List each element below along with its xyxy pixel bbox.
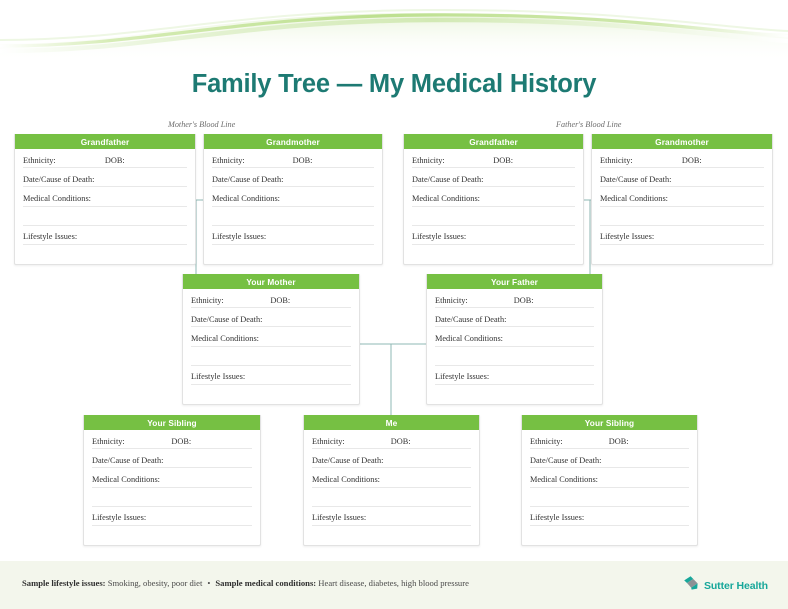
field-label-dob: DOB: xyxy=(682,156,702,165)
field-label-medical: Medical Conditions: xyxy=(530,475,598,484)
field-label-death: Date/Cause of Death: xyxy=(530,456,601,465)
field-label-lifestyle: Lifestyle Issues: xyxy=(191,372,245,381)
wave-svg xyxy=(0,0,788,62)
card-maternal-grandfather[interactable]: Grandfather Ethnicity: DOB: Date/Cause o… xyxy=(14,134,196,265)
card-title: Your Father xyxy=(427,274,602,289)
field-medical-continuation[interactable] xyxy=(92,488,252,507)
field-lifestyle-continuation[interactable] xyxy=(530,526,689,545)
field-medical[interactable]: Medical Conditions: xyxy=(530,468,689,487)
field-death[interactable]: Date/Cause of Death: xyxy=(412,168,575,187)
header-wave-decoration xyxy=(0,0,788,62)
field-ethnicity-dob[interactable]: Ethnicity: DOB: xyxy=(530,430,689,449)
footer-medical-heading: Sample medical conditions: xyxy=(215,578,316,588)
field-label-dob: DOB: xyxy=(105,156,125,165)
card-sibling-right[interactable]: Your Sibling Ethnicity: DOB: Date/Cause … xyxy=(521,415,698,546)
field-label-lifestyle: Lifestyle Issues: xyxy=(92,513,146,522)
card-me[interactable]: Me Ethnicity: DOB: Date/Cause of Death: … xyxy=(303,415,480,546)
field-label-death: Date/Cause of Death: xyxy=(435,315,506,324)
field-ethnicity-dob[interactable]: Ethnicity: DOB: xyxy=(212,149,374,168)
field-lifestyle[interactable]: Lifestyle Issues: xyxy=(312,507,471,526)
field-label-medical: Medical Conditions: xyxy=(191,334,259,343)
field-label-ethnicity: Ethnicity: xyxy=(312,437,345,446)
field-label-death: Date/Cause of Death: xyxy=(23,175,94,184)
brand-name: Sutter Health xyxy=(704,580,768,592)
logo-mark-svg xyxy=(682,574,700,592)
field-label-lifestyle: Lifestyle Issues: xyxy=(23,232,77,241)
field-death[interactable]: Date/Cause of Death: xyxy=(530,449,689,468)
field-lifestyle[interactable]: Lifestyle Issues: xyxy=(92,507,252,526)
field-label-lifestyle: Lifestyle Issues: xyxy=(412,232,466,241)
field-medical-continuation[interactable] xyxy=(212,207,374,226)
card-fields[interactable]: Ethnicity: DOB: Date/Cause of Death: Med… xyxy=(183,289,359,404)
field-medical[interactable]: Medical Conditions: xyxy=(92,468,252,487)
field-label-dob: DOB: xyxy=(493,156,513,165)
field-label-ethnicity: Ethnicity: xyxy=(435,296,468,305)
field-label-ethnicity: Ethnicity: xyxy=(530,437,563,446)
field-lifestyle-continuation[interactable] xyxy=(92,526,252,545)
field-ethnicity-dob[interactable]: Ethnicity: DOB: xyxy=(312,430,471,449)
footer-medical-examples: Heart disease, diabetes, high blood pres… xyxy=(316,578,469,588)
field-death[interactable]: Date/Cause of Death: xyxy=(435,308,594,327)
field-ethnicity-dob[interactable]: Ethnicity: DOB: xyxy=(23,149,187,168)
field-medical-continuation[interactable] xyxy=(23,207,187,226)
card-title: Grandfather xyxy=(15,134,195,149)
field-label-dob: DOB: xyxy=(293,156,313,165)
field-lifestyle[interactable]: Lifestyle Issues: xyxy=(600,226,764,245)
field-label-medical: Medical Conditions: xyxy=(600,194,668,203)
field-death[interactable]: Date/Cause of Death: xyxy=(600,168,764,187)
card-title: Your Sibling xyxy=(84,415,260,430)
card-maternal-grandmother[interactable]: Grandmother Ethnicity: DOB: Date/Cause o… xyxy=(203,134,383,265)
field-lifestyle[interactable]: Lifestyle Issues: xyxy=(530,507,689,526)
field-lifestyle-continuation[interactable] xyxy=(191,385,351,404)
footer-separator: • xyxy=(202,578,215,588)
card-title: Me xyxy=(304,415,479,430)
field-medical[interactable]: Medical Conditions: xyxy=(412,187,575,206)
mothers-blood-line-label: Mother's Blood Line xyxy=(168,120,235,129)
field-ethnicity-dob[interactable]: Ethnicity: DOB: xyxy=(191,289,351,308)
field-label-dob: DOB: xyxy=(270,296,290,305)
card-fields[interactable]: Ethnicity: DOB: Date/Cause of Death: Med… xyxy=(204,149,382,264)
field-label-lifestyle: Lifestyle Issues: xyxy=(435,372,489,381)
field-ethnicity-dob[interactable]: Ethnicity: DOB: xyxy=(92,430,252,449)
field-label-lifestyle: Lifestyle Issues: xyxy=(212,232,266,241)
field-medical-continuation[interactable] xyxy=(412,207,575,226)
field-label-dob: DOB: xyxy=(514,296,534,305)
field-label-medical: Medical Conditions: xyxy=(412,194,480,203)
field-label-death: Date/Cause of Death: xyxy=(212,175,283,184)
field-death[interactable]: Date/Cause of Death: xyxy=(191,308,351,327)
card-fields[interactable]: Ethnicity: DOB: Date/Cause of Death: Med… xyxy=(404,149,583,264)
field-lifestyle-continuation[interactable] xyxy=(412,245,575,264)
field-lifestyle[interactable]: Lifestyle Issues: xyxy=(23,226,187,245)
field-ethnicity-dob[interactable]: Ethnicity: DOB: xyxy=(412,149,575,168)
field-medical[interactable]: Medical Conditions: xyxy=(191,327,351,346)
field-label-medical: Medical Conditions: xyxy=(92,475,160,484)
field-label-lifestyle: Lifestyle Issues: xyxy=(312,513,366,522)
field-label-dob: DOB: xyxy=(171,437,191,446)
field-medical-continuation[interactable] xyxy=(530,488,689,507)
field-label-ethnicity: Ethnicity: xyxy=(23,156,56,165)
field-label-ethnicity: Ethnicity: xyxy=(600,156,633,165)
field-lifestyle[interactable]: Lifestyle Issues: xyxy=(412,226,575,245)
field-lifestyle-continuation[interactable] xyxy=(23,245,187,264)
field-lifestyle-continuation[interactable] xyxy=(212,245,374,264)
card-paternal-grandmother[interactable]: Grandmother Ethnicity: DOB: Date/Cause o… xyxy=(591,134,773,265)
card-title: Grandmother xyxy=(204,134,382,149)
field-lifestyle-continuation[interactable] xyxy=(600,245,764,264)
field-death[interactable]: Date/Cause of Death: xyxy=(312,449,471,468)
card-sibling-left[interactable]: Your Sibling Ethnicity: DOB: Date/Cause … xyxy=(83,415,261,546)
field-death[interactable]: Date/Cause of Death: xyxy=(212,168,374,187)
field-label-ethnicity: Ethnicity: xyxy=(92,437,125,446)
field-death[interactable]: Date/Cause of Death: xyxy=(23,168,187,187)
field-ethnicity-dob[interactable]: Ethnicity: DOB: xyxy=(435,289,594,308)
field-lifestyle-continuation[interactable] xyxy=(435,385,594,404)
field-lifestyle[interactable]: Lifestyle Issues: xyxy=(435,366,594,385)
card-fields[interactable]: Ethnicity: DOB: Date/Cause of Death: Med… xyxy=(15,149,195,264)
field-lifestyle[interactable]: Lifestyle Issues: xyxy=(191,366,351,385)
card-title: Your Mother xyxy=(183,274,359,289)
field-medical[interactable]: Medical Conditions: xyxy=(212,187,374,206)
field-label-death: Date/Cause of Death: xyxy=(412,175,483,184)
field-label-dob: DOB: xyxy=(609,437,629,446)
field-medical-continuation[interactable] xyxy=(191,347,351,366)
field-label-death: Date/Cause of Death: xyxy=(92,456,163,465)
field-label-dob: DOB: xyxy=(391,437,411,446)
card-fields[interactable]: Ethnicity: DOB: Date/Cause of Death: Med… xyxy=(304,430,479,545)
card-paternal-grandfather[interactable]: Grandfather Ethnicity: DOB: Date/Cause o… xyxy=(403,134,584,265)
card-fields[interactable]: Ethnicity: DOB: Date/Cause of Death: Med… xyxy=(592,149,772,264)
card-fields[interactable]: Ethnicity: DOB: Date/Cause of Death: Med… xyxy=(522,430,697,545)
field-label-ethnicity: Ethnicity: xyxy=(212,156,245,165)
field-label-lifestyle: Lifestyle Issues: xyxy=(530,513,584,522)
field-medical[interactable]: Medical Conditions: xyxy=(435,327,594,346)
field-label-ethnicity: Ethnicity: xyxy=(191,296,224,305)
card-title: Your Sibling xyxy=(522,415,697,430)
card-title: Grandmother xyxy=(592,134,772,149)
card-fields[interactable]: Ethnicity: DOB: Date/Cause of Death: Med… xyxy=(84,430,260,545)
field-label-death: Date/Cause of Death: xyxy=(600,175,671,184)
brand-lockup: Sutter Health xyxy=(682,574,768,597)
field-medical[interactable]: Medical Conditions: xyxy=(600,187,764,206)
field-label-death: Date/Cause of Death: xyxy=(191,315,262,324)
field-death[interactable]: Date/Cause of Death: xyxy=(92,449,252,468)
field-lifestyle-continuation[interactable] xyxy=(312,526,471,545)
field-medical-continuation[interactable] xyxy=(435,347,594,366)
field-medical-continuation[interactable] xyxy=(600,207,764,226)
field-medical[interactable]: Medical Conditions: xyxy=(312,468,471,487)
footer-sample-text: Sample lifestyle issues: Smoking, obesit… xyxy=(22,578,469,588)
field-ethnicity-dob[interactable]: Ethnicity: DOB: xyxy=(600,149,764,168)
field-label-medical: Medical Conditions: xyxy=(312,475,380,484)
card-mother[interactable]: Your Mother Ethnicity: DOB: Date/Cause o… xyxy=(182,274,360,405)
card-fields[interactable]: Ethnicity: DOB: Date/Cause of Death: Med… xyxy=(427,289,602,404)
field-label-death: Date/Cause of Death: xyxy=(312,456,383,465)
sutter-health-logo-icon xyxy=(682,574,700,597)
footer-lifestyle-examples: Smoking, obesity, poor diet xyxy=(106,578,203,588)
field-label-ethnicity: Ethnicity: xyxy=(412,156,445,165)
page-title: Family Tree — My Medical History xyxy=(0,70,788,99)
field-medical[interactable]: Medical Conditions: xyxy=(23,187,187,206)
footer-band: Sample lifestyle issues: Smoking, obesit… xyxy=(0,561,788,609)
card-father[interactable]: Your Father Ethnicity: DOB: Date/Cause o… xyxy=(426,274,603,405)
card-title: Grandfather xyxy=(404,134,583,149)
field-label-medical: Medical Conditions: xyxy=(23,194,91,203)
field-medical-continuation[interactable] xyxy=(312,488,471,507)
field-label-lifestyle: Lifestyle Issues: xyxy=(600,232,654,241)
fathers-blood-line-label: Father's Blood Line xyxy=(556,120,621,129)
field-lifestyle[interactable]: Lifestyle Issues: xyxy=(212,226,374,245)
field-label-medical: Medical Conditions: xyxy=(212,194,280,203)
field-label-medical: Medical Conditions: xyxy=(435,334,503,343)
footer-lifestyle-heading: Sample lifestyle issues: xyxy=(22,578,106,588)
